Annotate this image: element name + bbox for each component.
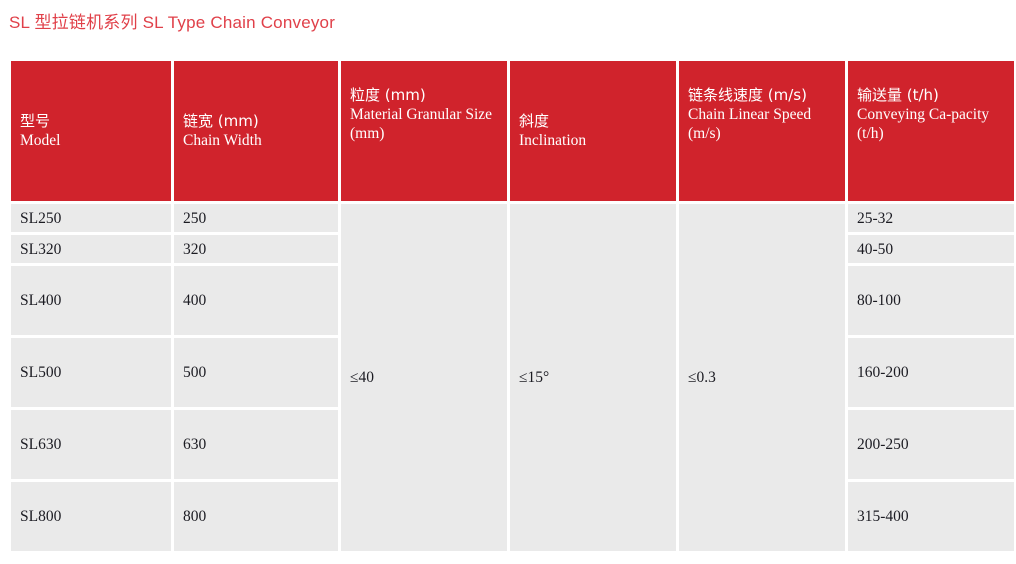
cell-chain-width: 250 [174, 204, 338, 232]
cell-chain-linear-speed-value: ≤0.3 [688, 368, 836, 387]
cell-model: SL400 [11, 266, 171, 335]
cell-conveying-capacity-value: 25-32 [857, 209, 1005, 228]
column-header-model-cn: 型号 [20, 111, 162, 131]
table-row: SL250 250 ≤40 ≤15° ≤0.3 25-32 [11, 204, 1014, 232]
column-header-chain-width-cn: 链宽 (mm) [183, 111, 329, 131]
cell-model: SL250 [11, 204, 171, 232]
cell-conveying-capacity-value: 315-400 [857, 507, 1005, 526]
cell-conveying-capacity-value: 160-200 [857, 363, 1005, 382]
cell-inclination-value: ≤15° [519, 368, 667, 387]
column-header-granular-size-cn: 粒度 (mm) [350, 85, 498, 105]
column-header-granular-size: 粒度 (mm) Material Granular Size (mm) [341, 61, 507, 201]
cell-conveying-capacity: 315-400 [848, 482, 1014, 551]
column-header-chain-width: 链宽 (mm) Chain Width [174, 61, 338, 201]
cell-chain-linear-speed-merged: ≤0.3 [679, 204, 845, 551]
cell-chain-width-value: 320 [183, 240, 329, 259]
cell-conveying-capacity: 80-100 [848, 266, 1014, 335]
cell-conveying-capacity-value: 200-250 [857, 435, 1005, 454]
cell-inclination-merged: ≤15° [510, 204, 676, 551]
column-header-chain-linear-speed-cn: 链条线速度 (m/s) [688, 85, 836, 105]
column-header-model-en: Model [20, 131, 162, 151]
cell-chain-width: 400 [174, 266, 338, 335]
cell-chain-width-value: 630 [183, 435, 329, 454]
column-header-inclination-cn: 斜度 [519, 111, 667, 131]
cell-conveying-capacity-value: 80-100 [857, 291, 1005, 310]
cell-conveying-capacity: 25-32 [848, 204, 1014, 232]
cell-model: SL320 [11, 235, 171, 263]
cell-granular-size-merged: ≤40 [341, 204, 507, 551]
cell-model-value: SL250 [20, 209, 162, 228]
cell-model-value: SL500 [20, 363, 162, 382]
page-root: SL 型拉链机系列 SL Type Chain Conveyor 型号 Mode… [0, 0, 1016, 564]
cell-conveying-capacity: 200-250 [848, 410, 1014, 479]
cell-model: SL500 [11, 338, 171, 407]
column-header-chain-linear-speed: 链条线速度 (m/s) Chain Linear Speed (m/s) [679, 61, 845, 201]
column-header-model: 型号 Model [11, 61, 171, 201]
specification-table: 型号 Model 链宽 (mm) Chain Width 粒度 (mm) Mat… [8, 58, 1016, 554]
column-header-inclination-en: Inclination [519, 131, 667, 151]
cell-chain-width-value: 400 [183, 291, 329, 310]
column-header-inclination: 斜度 Inclination [510, 61, 676, 201]
column-header-chain-linear-speed-en: Chain Linear Speed (m/s) [688, 105, 836, 144]
column-header-chain-width-en: Chain Width [183, 131, 329, 151]
cell-chain-width: 630 [174, 410, 338, 479]
cell-conveying-capacity: 160-200 [848, 338, 1014, 407]
cell-chain-width-value: 500 [183, 363, 329, 382]
cell-chain-width-value: 800 [183, 507, 329, 526]
column-header-conveying-capacity-cn: 输送量 (t/h) [857, 85, 1005, 105]
cell-chain-width: 320 [174, 235, 338, 263]
column-header-conveying-capacity: 输送量 (t/h) Conveying Ca-pacity (t/h) [848, 61, 1014, 201]
cell-conveying-capacity: 40-50 [848, 235, 1014, 263]
cell-granular-size-value: ≤40 [350, 368, 498, 387]
column-header-conveying-capacity-en: Conveying Ca-pacity (t/h) [857, 105, 1005, 144]
table-body: SL250 250 ≤40 ≤15° ≤0.3 25-32 [11, 204, 1014, 551]
cell-model: SL800 [11, 482, 171, 551]
cell-chain-width: 500 [174, 338, 338, 407]
cell-model-value: SL400 [20, 291, 162, 310]
cell-model-value: SL320 [20, 240, 162, 259]
header-row: 型号 Model 链宽 (mm) Chain Width 粒度 (mm) Mat… [11, 61, 1014, 201]
cell-model-value: SL800 [20, 507, 162, 526]
column-header-granular-size-en: Material Granular Size (mm) [350, 105, 498, 144]
cell-conveying-capacity-value: 40-50 [857, 240, 1005, 259]
cell-model-value: SL630 [20, 435, 162, 454]
page-title: SL 型拉链机系列 SL Type Chain Conveyor [9, 12, 335, 34]
cell-chain-width: 800 [174, 482, 338, 551]
cell-chain-width-value: 250 [183, 209, 329, 228]
table-header: 型号 Model 链宽 (mm) Chain Width 粒度 (mm) Mat… [11, 61, 1014, 201]
cell-model: SL630 [11, 410, 171, 479]
